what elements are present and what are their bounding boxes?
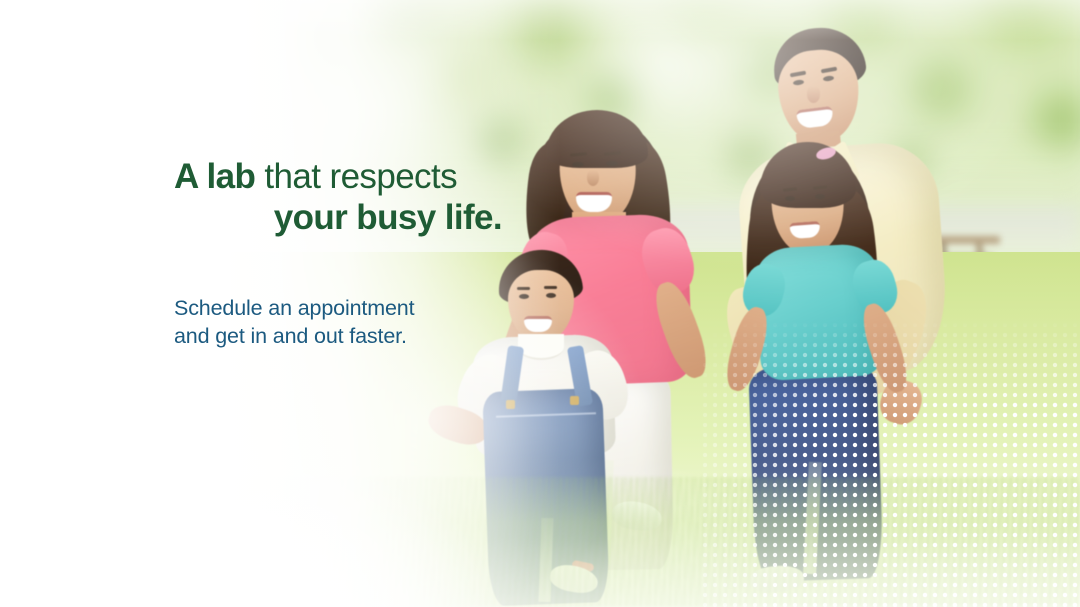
hero-banner: A lab that respectsyour busy life. Sched… [0, 0, 1080, 607]
headline-line2: your busy life. [174, 197, 534, 238]
mother-eye-right [606, 161, 618, 166]
girl-eye-right [815, 194, 825, 199]
grass-bottom-fade [230, 457, 1080, 607]
girl-hair-front [760, 142, 856, 208]
mother-nose [587, 170, 599, 186]
background-photograph [0, 0, 1080, 607]
girl-eye-left [785, 196, 795, 201]
boy-overall-buckle-left [506, 400, 515, 409]
subheadline: Schedule an appointment and get in and o… [174, 239, 534, 351]
mother-hair-front [546, 110, 648, 168]
headline-emphasis: A lab [174, 157, 255, 196]
father-nose [807, 86, 820, 103]
mother-smile [576, 192, 612, 212]
boy-eyebrow-right [544, 286, 557, 289]
headline: A lab that respectsyour busy life. [174, 156, 534, 239]
mother-eye-left [572, 162, 584, 167]
headline-line1-rest: that respects [255, 157, 457, 196]
boy-overall-buckle-right [570, 396, 579, 405]
boy-eye-right [546, 293, 556, 298]
copy-block: A lab that respectsyour busy life. Sched… [174, 156, 534, 350]
